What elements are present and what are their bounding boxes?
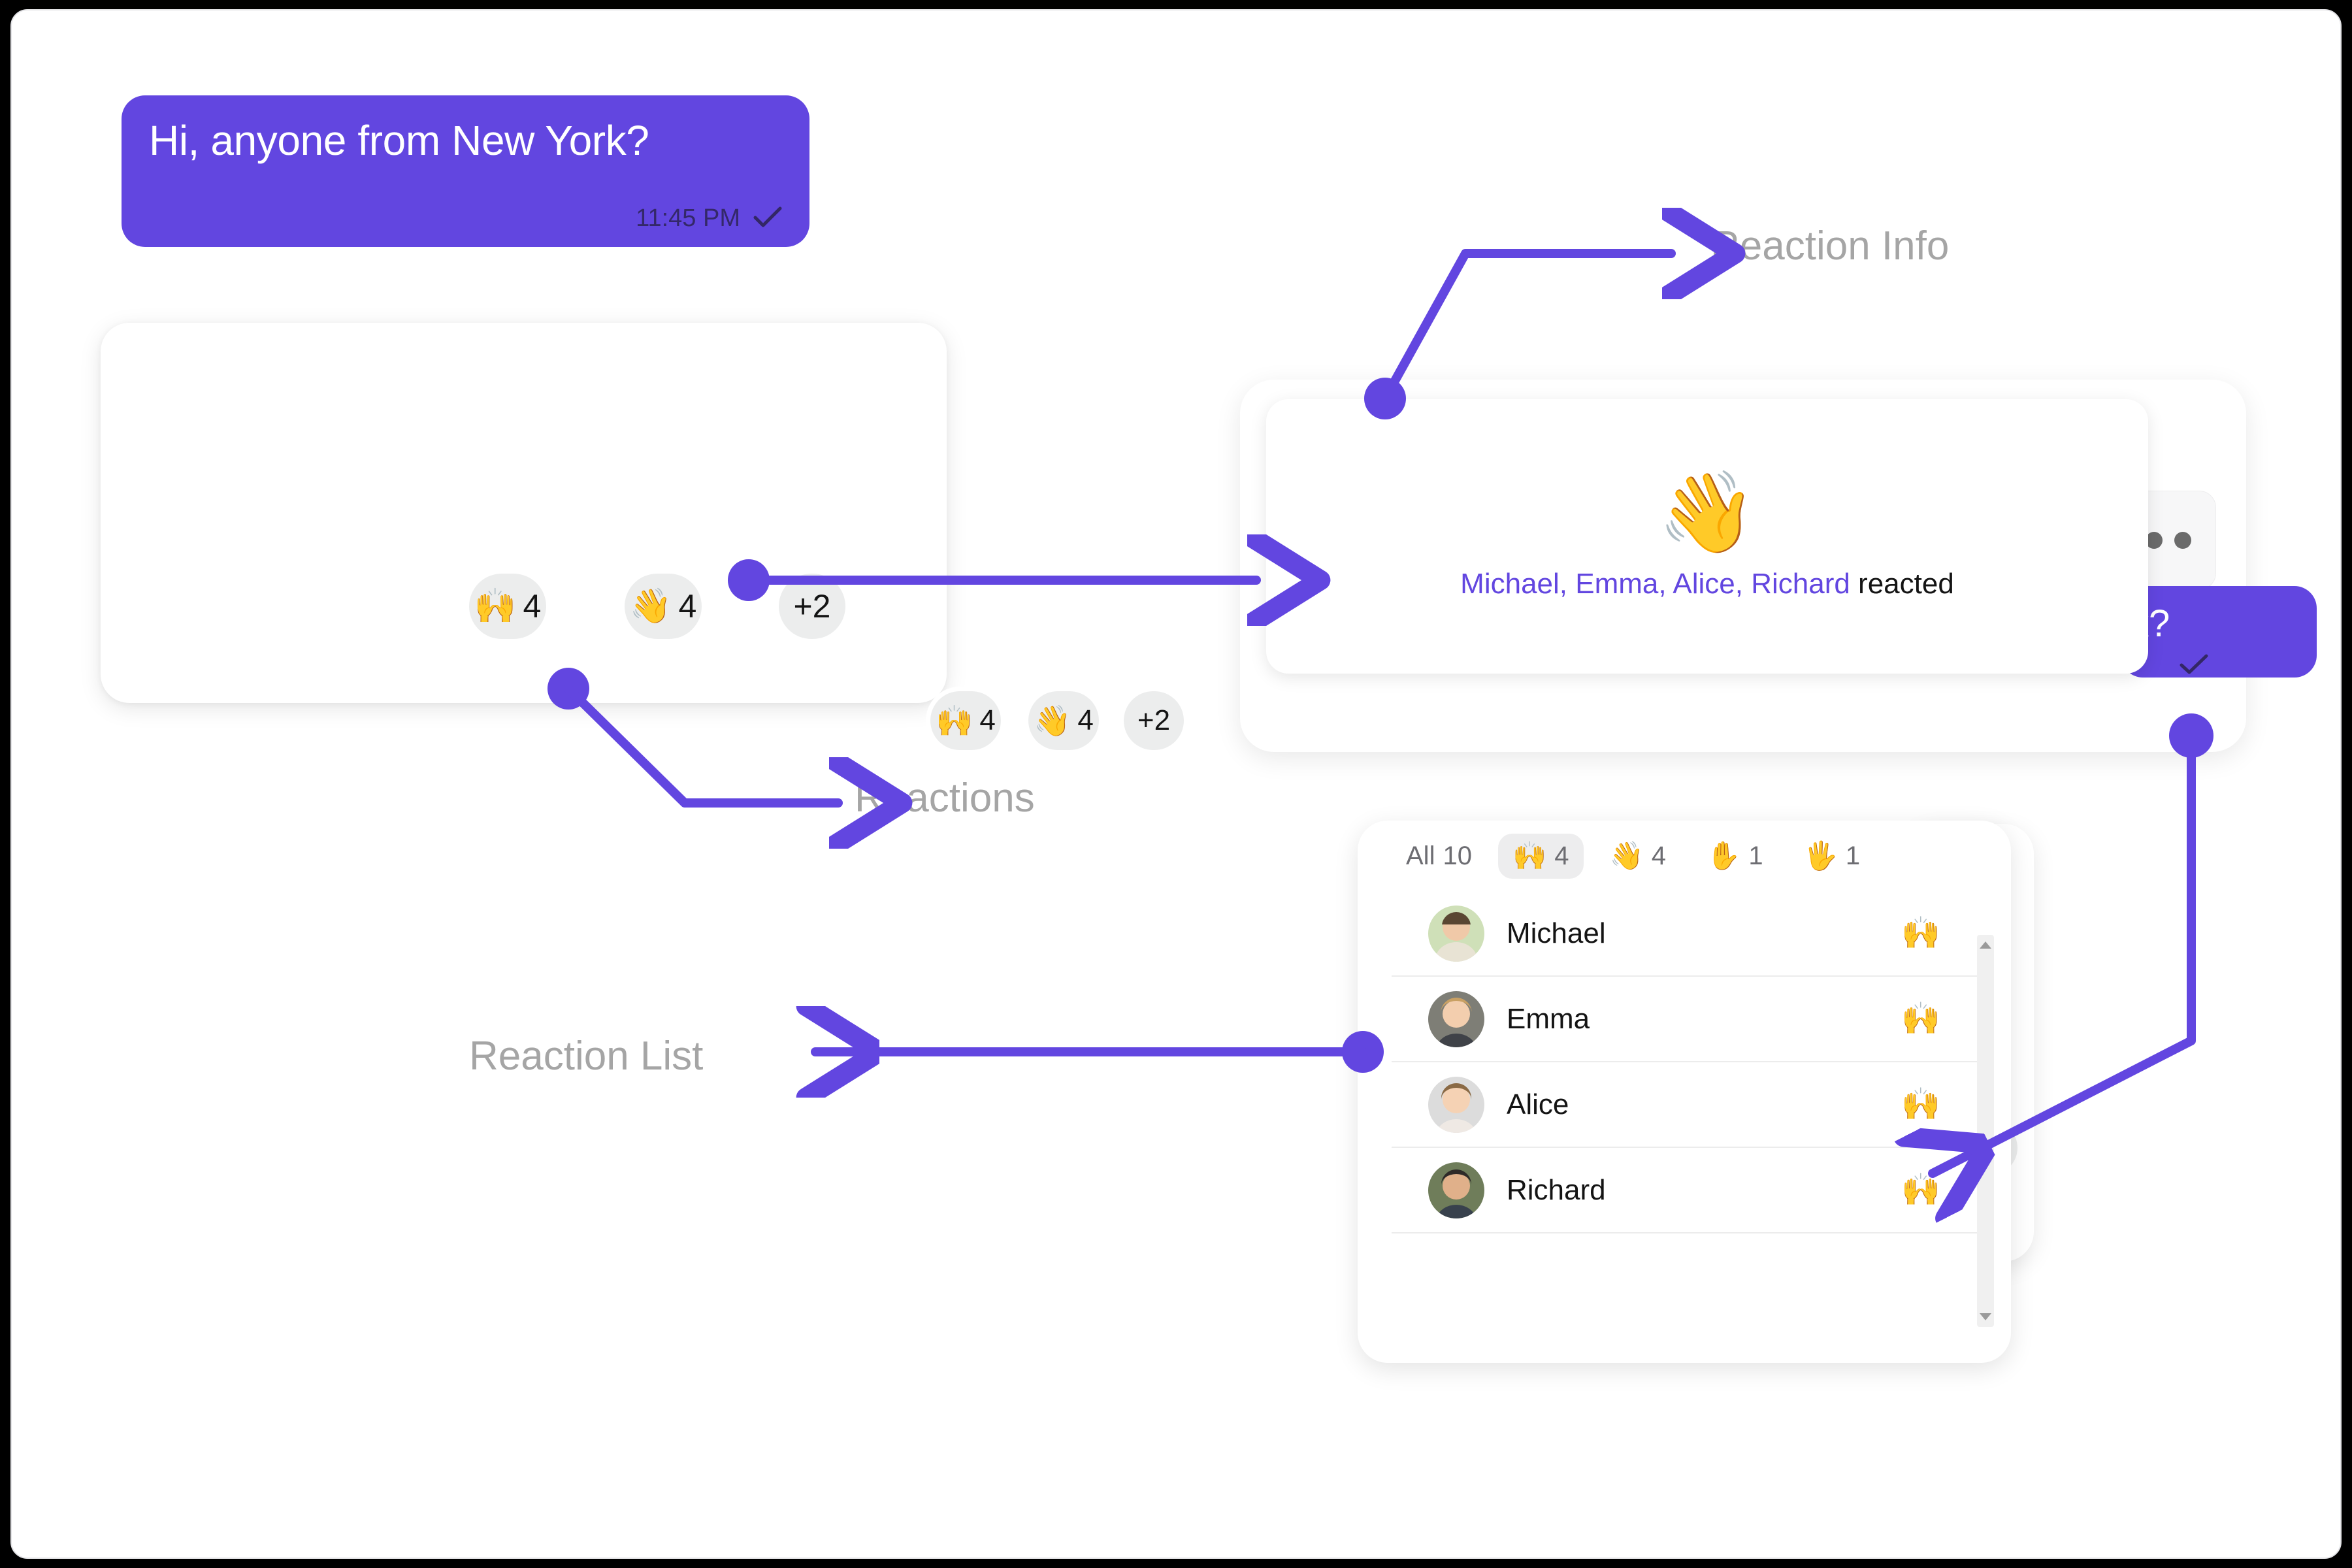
- reaction-pill-more[interactable]: +2: [1124, 691, 1184, 750]
- user-name: Alice: [1507, 1088, 1569, 1121]
- raised-hands-icon: 🙌: [1901, 1175, 1940, 1206]
- check-icon: [2180, 654, 2208, 678]
- waving-hand-icon: 👋: [1658, 472, 1757, 552]
- avatar: [1428, 1162, 1484, 1218]
- waving-hand-icon: 👋: [1610, 842, 1644, 870]
- waving-hand-icon: 👋: [630, 589, 672, 623]
- raised-hand-icon: ✋: [1707, 842, 1740, 870]
- reaction-count: 4: [523, 587, 541, 625]
- waving-hand-icon: 👋: [1034, 706, 1071, 736]
- connector-reactions: [568, 689, 838, 803]
- list-item[interactable]: Alice 🙌: [1392, 1062, 1977, 1148]
- tab-raised-hand[interactable]: ✋ 1: [1692, 834, 1778, 879]
- list-item[interactable]: Emma 🙌: [1392, 977, 1977, 1062]
- check-icon: [753, 206, 782, 231]
- reaction-list-tabs: All 10 🙌 4 👋 4 ✋ 1 🖐 1: [1358, 821, 2011, 891]
- reaction-pill[interactable]: 🙌 4: [469, 574, 546, 639]
- hand-splayed-icon: 🖐: [1804, 842, 1838, 870]
- reactor-names: Michael, Emma, Alice, Richard: [1460, 568, 1850, 600]
- tab-waving-hand[interactable]: 👋 4: [1595, 834, 1681, 879]
- reaction-more-count: +2: [1137, 704, 1170, 737]
- message-bubble[interactable]: Hi, anyone from New York? 11:45 PM: [122, 95, 809, 247]
- tab-count: 1: [1846, 841, 1860, 871]
- raised-hands-icon: 🙌: [1901, 1004, 1940, 1035]
- scroll-up-arrow-icon[interactable]: [1980, 941, 1991, 949]
- tab-count: 10: [1443, 841, 1472, 871]
- reaction-more-count: +2: [793, 587, 830, 625]
- reaction-info-text: Michael, Emma, Alice, Richard reacted: [1460, 568, 1954, 600]
- reaction-count: 4: [1077, 704, 1093, 737]
- message-time: 11:45 PM: [636, 204, 740, 233]
- tab-all[interactable]: All 10: [1392, 834, 1486, 879]
- reaction-pill[interactable]: 👋 4: [1028, 691, 1099, 750]
- reaction-pill[interactable]: 👋 4: [625, 574, 702, 639]
- tab-hand-splayed[interactable]: 🖐 1: [1789, 834, 1875, 879]
- reaction-list-rows: Michael 🙌 Emma 🙌 Alice 🙌: [1358, 891, 2011, 1233]
- reacted-suffix: reacted: [1850, 568, 1954, 600]
- user-name: Richard: [1507, 1174, 1606, 1207]
- tab-label: All: [1406, 841, 1435, 871]
- reaction-list-panel: All 10 🙌 4 👋 4 ✋ 1 🖐 1: [1358, 821, 2011, 1363]
- tab-raised-hands[interactable]: 🙌 4: [1498, 834, 1584, 879]
- background-message-bubble: k?: [2121, 586, 2317, 678]
- list-item[interactable]: Michael 🙌: [1392, 891, 1977, 977]
- list-scrollbar[interactable]: [1977, 935, 1994, 1327]
- list-item[interactable]: Richard 🙌: [1392, 1148, 1977, 1233]
- reaction-info-stack: k? 👋 Michael, Emma, Alice, Richard react…: [1240, 380, 2246, 752]
- tab-count: 4: [1652, 841, 1666, 871]
- reaction-pill-more[interactable]: +2: [779, 574, 845, 639]
- canvas: Hi, anyone from New York? 11:45 PM 🙌 4 👋…: [10, 9, 2342, 1559]
- raised-hands-icon: 🙌: [936, 706, 973, 736]
- user-name: Emma: [1507, 1003, 1590, 1036]
- avatar: [1428, 991, 1484, 1047]
- reaction-count: 4: [678, 587, 696, 625]
- annotation-reaction-list: Reaction List: [469, 1033, 703, 1079]
- tab-count: 4: [1554, 841, 1569, 871]
- reaction-pill[interactable]: 🙌 4: [930, 691, 1001, 750]
- annotation-reactions: Reactions: [855, 775, 1035, 821]
- message-card: [101, 323, 947, 703]
- scroll-down-arrow-icon[interactable]: [1980, 1313, 1991, 1320]
- reaction-count: 4: [979, 704, 995, 737]
- message-meta: 11:45 PM: [636, 204, 782, 233]
- raised-hands-icon: 🙌: [1512, 842, 1546, 870]
- user-name: Michael: [1507, 917, 1606, 950]
- avatar: [1428, 1077, 1484, 1133]
- connector-reaction-info: [1385, 253, 1671, 399]
- annotation-reaction-info: Reaction Info: [1710, 223, 1949, 269]
- raised-hands-icon: 🙌: [1901, 1089, 1940, 1120]
- message-text: Hi, anyone from New York?: [149, 118, 782, 165]
- raised-hands-icon: 🙌: [1901, 918, 1940, 949]
- raised-hands-icon: 🙌: [474, 589, 517, 623]
- avatar: [1428, 906, 1484, 962]
- reaction-info-card: 👋 Michael, Emma, Alice, Richard reacted: [1266, 399, 2148, 674]
- tab-count: 1: [1748, 841, 1763, 871]
